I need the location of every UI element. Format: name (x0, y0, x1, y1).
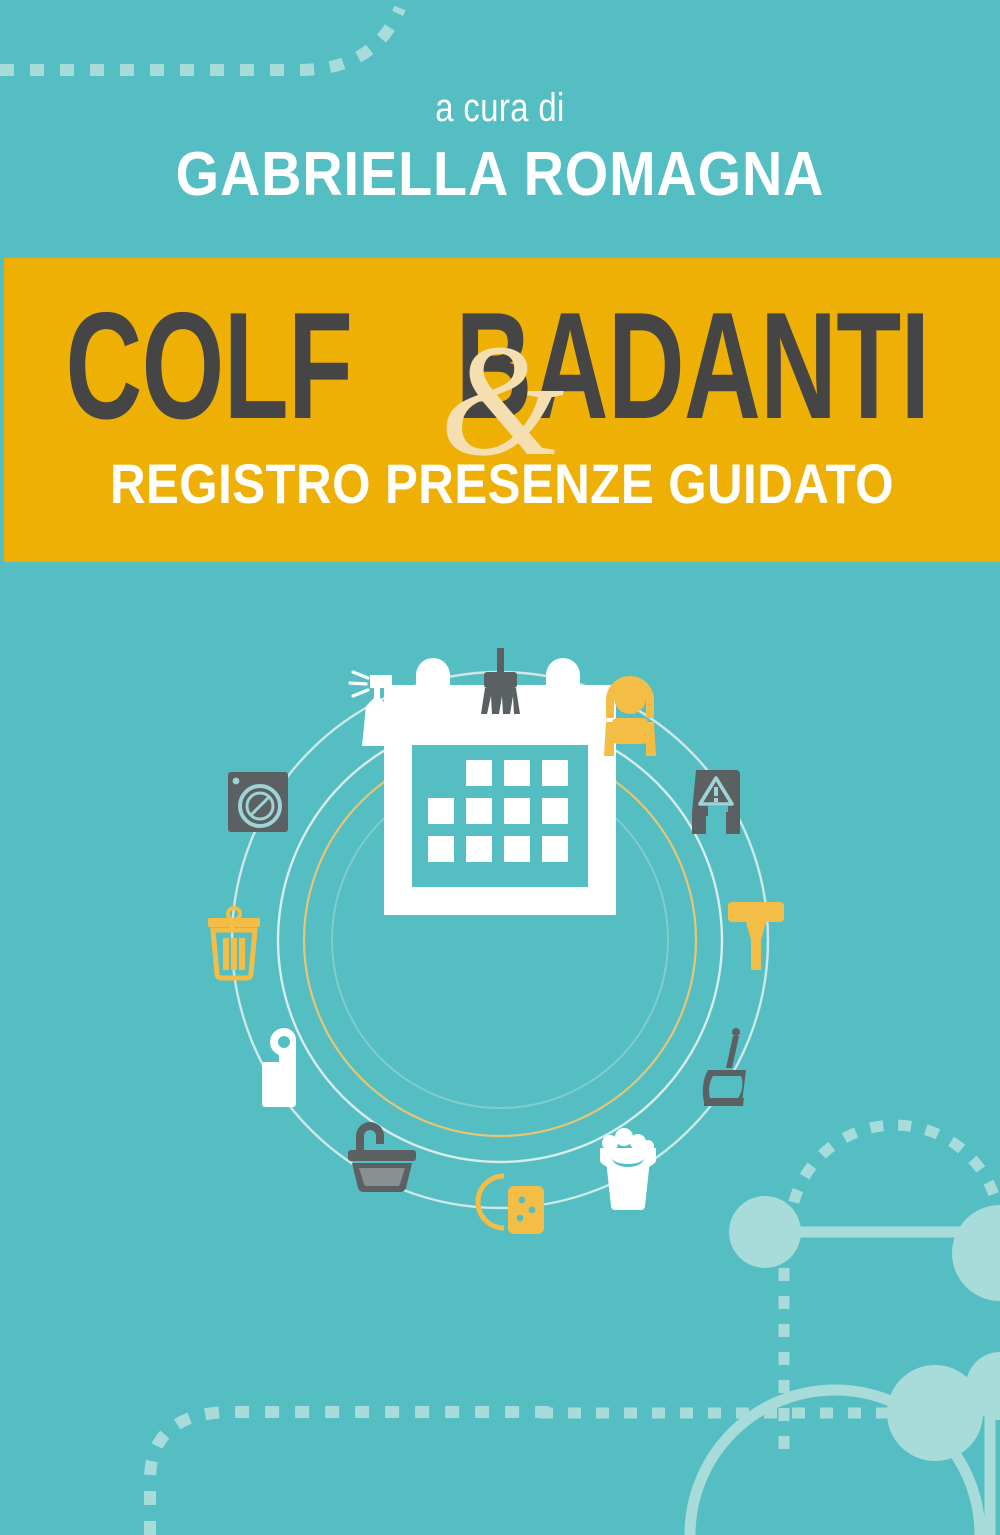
broom-icon (481, 648, 520, 714)
title-word-left: COLF (65, 296, 352, 436)
door-hanger-icon (262, 1028, 296, 1107)
book-cover: a cura di GABRIELLA ROMAGNA COLFBADANTI … (0, 0, 1000, 1535)
author-name: GABRIELLA ROMAGNA (50, 144, 950, 206)
trash-bin-icon (208, 908, 260, 978)
dashed-curve-top (0, 8, 400, 70)
deco-node-2 (952, 1205, 1000, 1301)
title-band: COLFBADANTI & REGISTRO PRESENZE GUIDATO (4, 258, 1000, 562)
icon-wheel-illustration (180, 630, 820, 1250)
washing-machine-icon (228, 772, 288, 832)
dustpan-icon (703, 1028, 746, 1106)
sink-faucet-icon (348, 1122, 416, 1192)
squeegee-icon (728, 902, 784, 970)
spray-bottle-icon (350, 672, 392, 746)
title-ampersand: & (440, 320, 564, 480)
bucket-suds-icon (600, 1128, 656, 1210)
author-block: a cura di GABRIELLA ROMAGNA (0, 88, 1000, 206)
dish-sponge-icon (474, 1168, 544, 1236)
dashed-arc-node (790, 1125, 1000, 1230)
author-prefix: a cura di (90, 88, 910, 128)
maid-person-icon (604, 676, 656, 756)
title-main: COLFBADANTI & (4, 296, 1000, 436)
wet-floor-sign-icon (692, 770, 740, 834)
dashed-curve-bottom-left (150, 1412, 560, 1535)
